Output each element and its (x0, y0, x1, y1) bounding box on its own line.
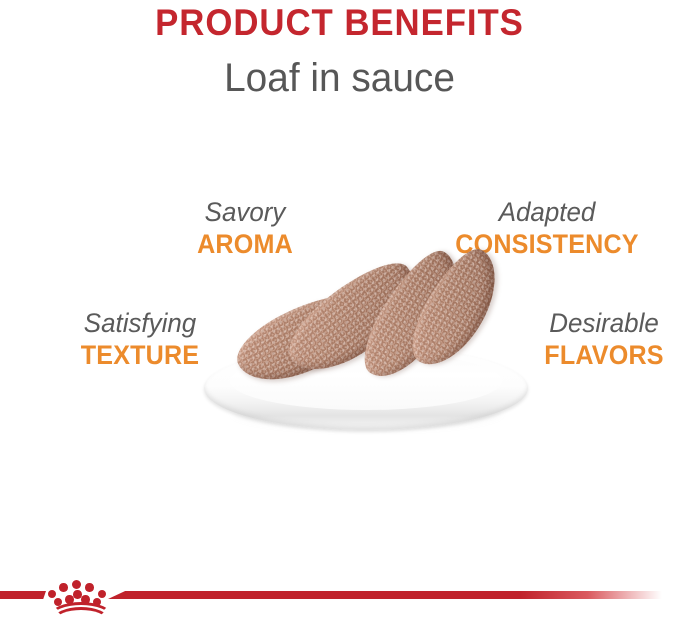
benefit-aroma-noun: AROMA (157, 231, 334, 258)
brand-rule-left (0, 591, 46, 599)
benefit-aroma-adjective: Savory (154, 199, 336, 226)
crown-arc-inner (53, 607, 109, 633)
benefit-flavors-noun: FLAVORS (530, 342, 679, 369)
benefit-aroma: Savory AROMA (150, 199, 340, 258)
crown-dot (85, 583, 94, 592)
benefit-consistency: Adapted CONSISTENCY (423, 199, 671, 258)
header: PRODUCT BENEFITS Loaf in sauce (0, 0, 679, 99)
crown-dot (98, 590, 106, 598)
footer (0, 576, 679, 620)
brand-rule-right (108, 591, 679, 599)
crown-dot (48, 590, 56, 598)
benefit-consistency-adjective: Adapted (428, 199, 666, 226)
crown-dot (72, 580, 81, 589)
crown-dot (59, 583, 68, 592)
page-title: PRODUCT BENEFITS (20, 0, 658, 41)
product-benefits-panel: PRODUCT BENEFITS Loaf in sauce Savory AR… (0, 0, 679, 620)
benefit-flavors-adjective: Desirable (527, 310, 679, 337)
product-photo (196, 268, 536, 463)
royal-canin-crown-icon (47, 576, 109, 620)
benefit-flavors: Desirable FLAVORS (524, 310, 679, 369)
page-subtitle: Loaf in sauce (10, 41, 669, 99)
